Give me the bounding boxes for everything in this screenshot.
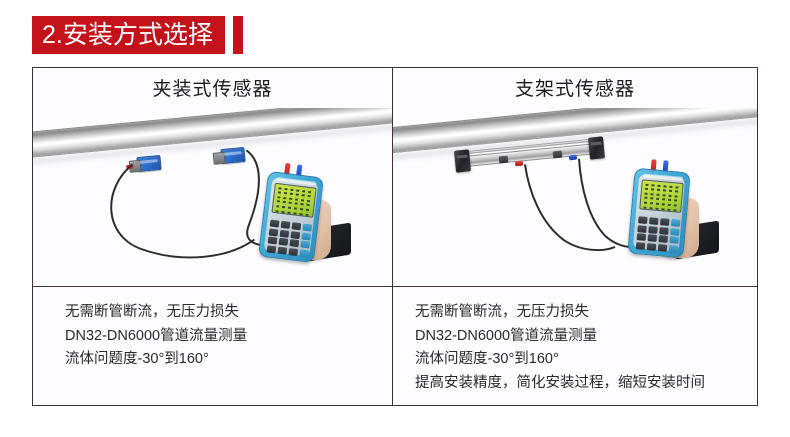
feature-item: 无需断管断流，无压力损失 xyxy=(65,301,382,324)
section-title-text: 2.安装方式选择 xyxy=(32,16,225,54)
column-header-clamp-on: 夹装式传感器 xyxy=(33,68,393,108)
feature-item: DN32-DN6000管道流量测量 xyxy=(65,325,382,348)
page-root: 2.安装方式选择 夹装式传感器 支架式传感器 xyxy=(0,0,790,437)
table-feature-row: 无需断管断流，无压力损失 DN32-DN6000管道流量测量 流体问题度-30°… xyxy=(33,287,757,405)
sensor-cables xyxy=(33,108,392,286)
feature-item: 提高安装精度，简化安装过程，缩短安装时间 xyxy=(415,372,747,395)
comparison-table: 夹装式传感器 支架式传感器 xyxy=(32,67,758,406)
bracket-sensor-illustration xyxy=(393,108,757,286)
feature-item: 流体问题度-30°到160° xyxy=(415,348,747,371)
title-accent-block xyxy=(233,16,243,54)
section-title-banner: 2.安装方式选择 xyxy=(32,16,243,54)
table-header-row: 夹装式传感器 支架式传感器 xyxy=(33,68,757,108)
handheld-flow-meter xyxy=(627,167,690,258)
handheld-flow-meter xyxy=(258,171,324,263)
feature-item: DN32-DN6000管道流量测量 xyxy=(415,325,747,348)
column-header-bracket: 支架式传感器 xyxy=(393,68,757,108)
clamp-on-sensor-illustration xyxy=(33,108,393,286)
meter-lcd-screen xyxy=(639,179,683,213)
meter-keypad xyxy=(636,216,681,253)
feature-item: 流体问题度-30°到160° xyxy=(65,348,382,371)
meter-keypad xyxy=(267,219,313,257)
feature-item: 无需断管断流，无压力损失 xyxy=(415,301,747,324)
meter-lcd-screen xyxy=(271,182,316,217)
meter-body xyxy=(627,167,690,258)
feature-list-bracket: 无需断管断流，无压力损失 DN32-DN6000管道流量测量 流体问题度-30°… xyxy=(393,287,757,405)
feature-list-clamp-on: 无需断管断流，无压力损失 DN32-DN6000管道流量测量 流体问题度-30°… xyxy=(33,287,393,405)
table-illustration-row xyxy=(33,108,757,287)
sensor-cables xyxy=(393,108,757,286)
meter-body xyxy=(258,171,324,263)
